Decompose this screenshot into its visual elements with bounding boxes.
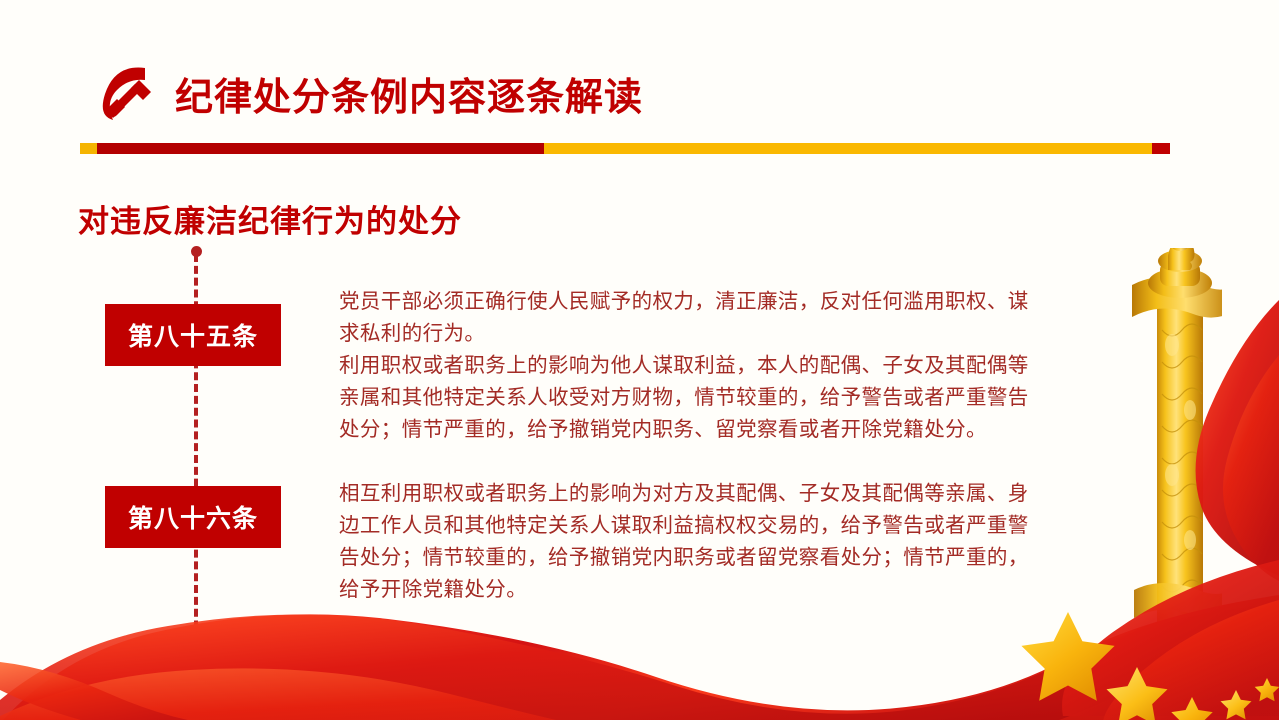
gold-stars <box>1021 612 1279 720</box>
section-heading: 对违反廉洁纪律行为的处分 <box>78 196 462 241</box>
article-text-86: 相互利用职权或者职务上的影响为对方及其配偶、子女及其配偶等亲属、身边工作人员和其… <box>339 478 1039 606</box>
timeline-arrow-icon <box>189 656 203 670</box>
page-title: 纪律处分条例内容逐条解读 <box>175 66 643 121</box>
huabiao-column <box>1132 237 1230 680</box>
hammer-and-sickle-emblem <box>95 62 159 124</box>
header-divider-bar <box>80 143 1170 154</box>
article-text-85: 党员干部必须正确行使人民赋予的权力，清正廉洁，反对任何滥用职权、谋求私利的行为。… <box>339 286 1039 446</box>
star-large <box>1021 612 1114 701</box>
star-medium <box>1106 667 1167 720</box>
star-small <box>1171 697 1212 720</box>
divider-gold-cap-left <box>80 143 97 154</box>
star-xsmall <box>1221 690 1252 719</box>
divider-red-segment <box>97 143 544 154</box>
slide-root: 纪律处分条例内容逐条解读 对违反廉洁纪律行为的处分 第八十五条 党员干部必须正确… <box>0 0 1279 720</box>
divider-red-cap-right <box>1152 143 1170 154</box>
divider-gold-segment <box>544 143 1152 154</box>
article-badge-86[interactable]: 第八十六条 <box>105 486 281 548</box>
star-tiny <box>1255 678 1279 701</box>
article-badge-85[interactable]: 第八十五条 <box>105 304 281 366</box>
red-ribbon-upper <box>1196 300 1279 581</box>
header: 纪律处分条例内容逐条解读 <box>95 58 643 128</box>
